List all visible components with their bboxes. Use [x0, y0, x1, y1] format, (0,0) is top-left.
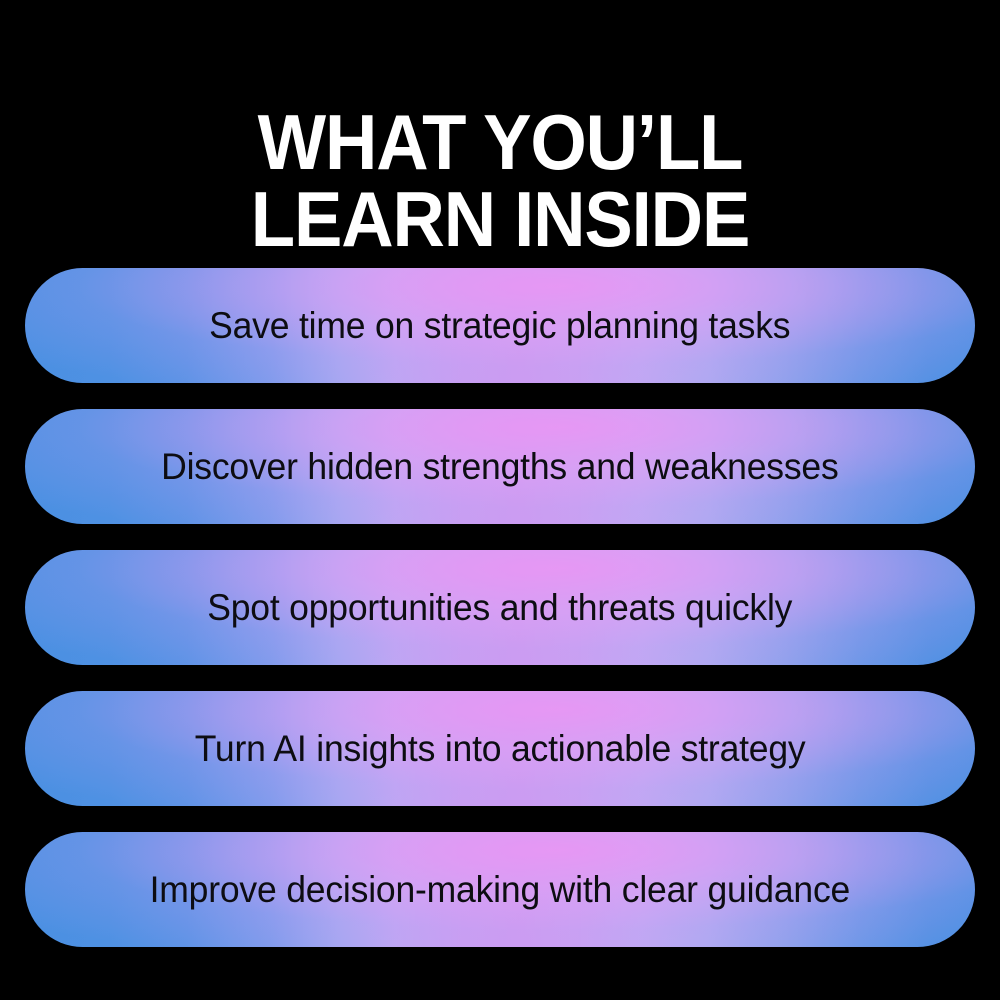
list-item[interactable]: Save time on strategic planning tasks: [25, 268, 975, 383]
list-item[interactable]: Turn AI insights into actionable strateg…: [25, 691, 975, 806]
benefit-label: Turn AI insights into actionable strateg…: [195, 730, 806, 767]
benefit-label: Improve decision-making with clear guida…: [150, 871, 851, 908]
benefits-list: Save time on strategic planning tasks Di…: [25, 268, 975, 947]
list-item[interactable]: Discover hidden strengths and weaknesses: [25, 409, 975, 524]
list-item[interactable]: Spot opportunities and threats quickly: [25, 550, 975, 665]
benefit-label: Save time on strategic planning tasks: [209, 307, 790, 344]
slide-root: WHAT YOU’LL LEARN INSIDE Save time on st…: [0, 0, 1000, 1000]
benefit-label: Spot opportunities and threats quickly: [207, 589, 792, 626]
list-item[interactable]: Improve decision-making with clear guida…: [25, 832, 975, 947]
page-title: WHAT YOU’LL LEARN INSIDE: [35, 104, 965, 257]
benefit-label: Discover hidden strengths and weaknesses: [161, 448, 838, 485]
